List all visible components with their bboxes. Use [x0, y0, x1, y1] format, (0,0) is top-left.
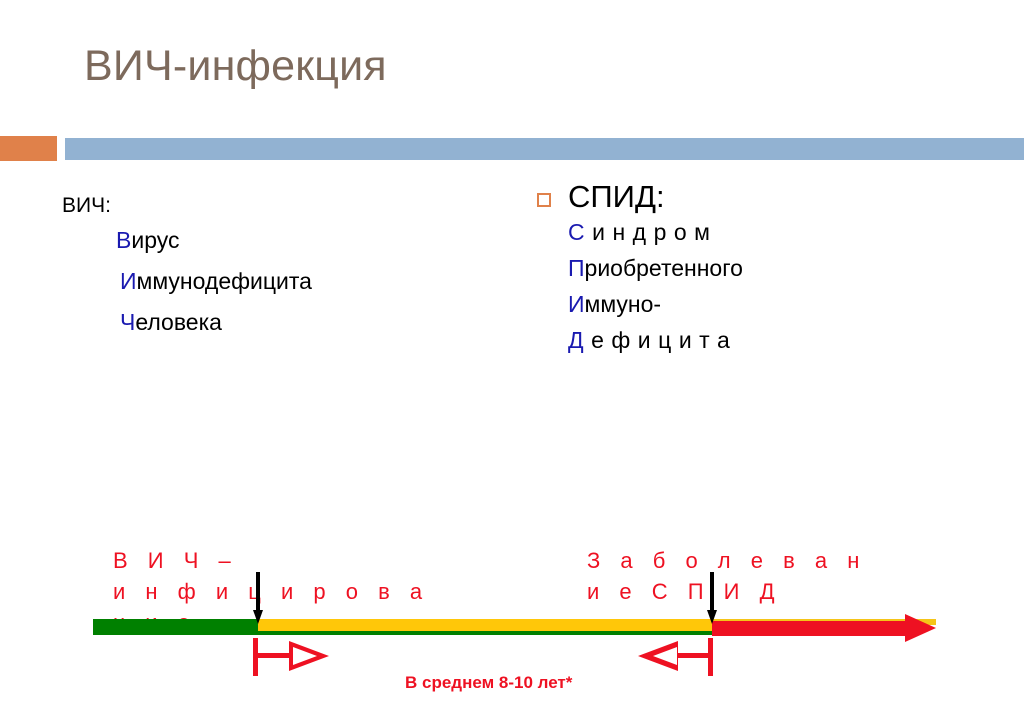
marker-arrow-infection-icon: [253, 572, 263, 625]
timeline-label-aids: З а б о л е в а н и е С П И Д: [587, 545, 866, 607]
timeline-label-infection-line-2: и н ф и ц и р о в а: [113, 576, 429, 607]
timeline-segment-infection: [93, 619, 258, 631]
duration-arrowhead-inner: [293, 647, 317, 665]
timeline-segment-latent: [258, 619, 712, 631]
duration-arrow-right-icon: [253, 638, 333, 678]
timeline-label-infection-line-1: В И Ч –: [113, 545, 429, 576]
duration-arrow-left-icon: [638, 638, 718, 678]
progression-timeline: В И Ч – и н ф и ц и р о в а н и е З а б …: [0, 0, 1024, 724]
marker-arrow-shaft: [256, 572, 260, 612]
marker-arrow-shaft: [710, 572, 714, 612]
duration-rail: [674, 653, 712, 658]
timeline-arrow-right-icon: [905, 614, 936, 642]
marker-arrow-head: [707, 610, 717, 624]
marker-arrow-head: [253, 610, 263, 624]
timeline-segment-aids: [712, 621, 912, 636]
marker-arrow-aids-icon: [707, 572, 717, 625]
timeline-label-aids-line-1: З а б о л е в а н: [587, 545, 866, 576]
timeline-caption: В среднем 8-10 лет*: [405, 673, 572, 693]
duration-arrowhead-inner: [653, 647, 677, 665]
slide-canvas: ВИЧ-инфекция ВИЧ: Вирус Иммунодефицита Ч…: [0, 0, 1024, 724]
timeline-label-aids-line-2: и е С П И Д: [587, 576, 866, 607]
